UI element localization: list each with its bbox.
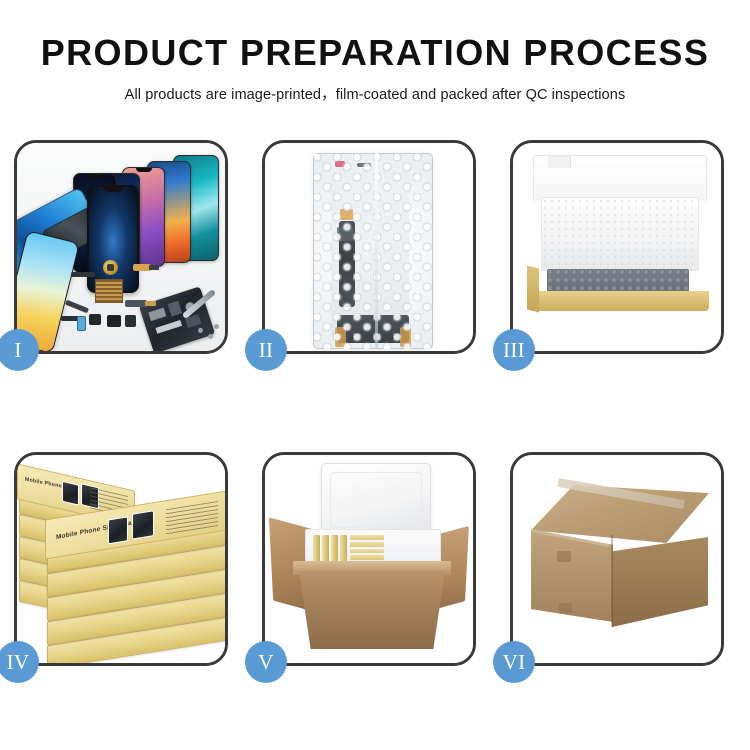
step-panel-2[interactable]: II [262, 140, 476, 354]
box-window-icon [132, 510, 154, 539]
screw-icon [214, 324, 219, 329]
page-subtitle: All products are image-printed，film-coat… [0, 72, 750, 104]
screw-icon [198, 328, 203, 333]
step-image-3 [513, 143, 721, 351]
carton-handle-tab-icon [557, 551, 571, 562]
kraft-tray-front-icon [531, 291, 709, 311]
bubble-wrap-bag-icon [313, 153, 433, 349]
step-badge-5: V [245, 641, 287, 683]
chip-part-icon [89, 314, 101, 325]
button-part-icon [77, 316, 86, 331]
carton-body-icon [299, 571, 445, 649]
kraft-tray-side-icon [527, 266, 539, 313]
step-panel-4[interactable]: Mobile Phone Spare Parts Mobile Phone Sp… [14, 452, 228, 666]
connector-grid-icon [95, 279, 123, 303]
carton-handle-tab-icon [559, 603, 572, 613]
camera-part-icon [125, 315, 136, 327]
step-panel-3[interactable]: III [510, 140, 724, 354]
box-spec-lines-icon [166, 501, 218, 535]
box-lid-icon [533, 155, 707, 200]
carton-edge-icon [611, 535, 613, 627]
box-stack-icon: Mobile Phone Spare Parts Mobile Phone Sp… [17, 455, 225, 663]
bag-seam-icon [375, 153, 378, 349]
step-image-1 [17, 143, 225, 351]
step-badge-6: VI [493, 641, 535, 683]
steps-grid: I II [14, 140, 736, 666]
product-preparation-infographic: PRODUCT PREPARATION PROCESS All products… [0, 0, 750, 750]
vibrator-part-icon [103, 260, 118, 275]
box-print-label: Mobile Phone Spare Parts [56, 518, 141, 541]
carton-side-face-icon [612, 537, 708, 627]
front-glass-panel-icon [87, 185, 139, 293]
connector-part-icon [125, 300, 147, 307]
speaker-part-icon [71, 272, 95, 277]
box-window-icon [108, 516, 128, 544]
flex-cable-part-icon [133, 264, 151, 271]
step-badge-1: I [0, 329, 39, 371]
screw-icon [208, 334, 213, 339]
foam-sheet-icon [541, 197, 699, 271]
box-window-icon [62, 481, 79, 506]
step-image-6 [513, 455, 721, 663]
step-image-2 [265, 143, 473, 351]
step-panel-1[interactable]: I [14, 140, 228, 354]
step-panel-6[interactable]: VI [510, 452, 724, 666]
page-title: PRODUCT PREPARATION PROCESS [0, 0, 750, 72]
step-badge-2: II [245, 329, 287, 371]
step-badge-3: III [493, 329, 535, 371]
step-image-5 [265, 455, 473, 663]
step-image-4: Mobile Phone Spare Parts Mobile Phone Sp… [17, 455, 225, 663]
step-badge-4: IV [0, 641, 39, 683]
header: PRODUCT PREPARATION PROCESS All products… [0, 0, 750, 104]
step-panel-5[interactable]: V [262, 452, 476, 666]
chip-part-2-icon [107, 315, 121, 327]
foam-lid-icon [321, 463, 431, 537]
bubble-texture-icon [313, 153, 433, 349]
